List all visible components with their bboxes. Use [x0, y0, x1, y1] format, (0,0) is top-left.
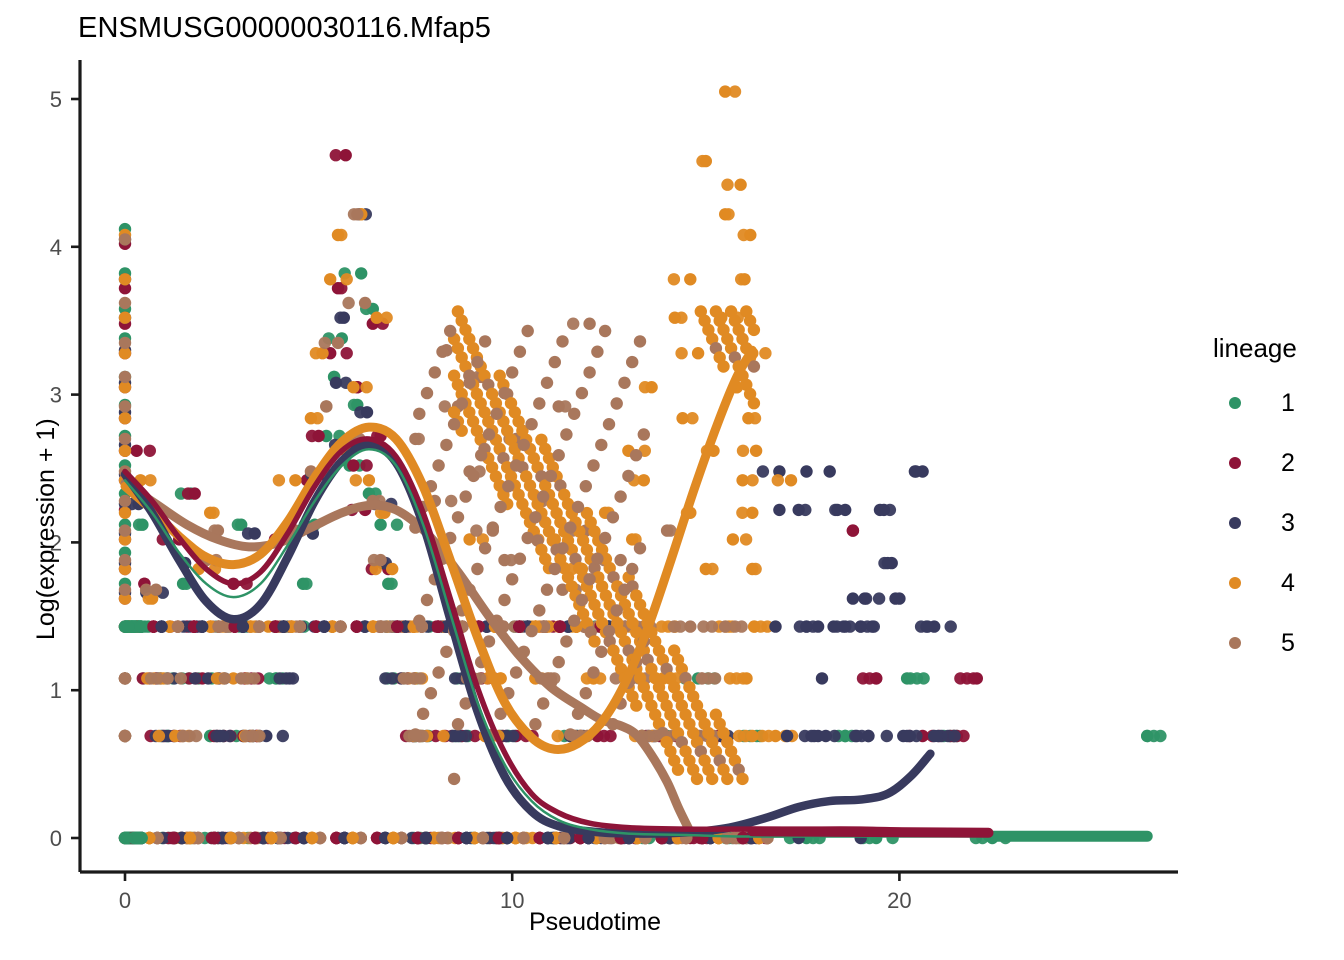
y-axis-label: Log(expression + 1): [0, 0, 38, 960]
legend-key-dot-icon: [1213, 568, 1257, 598]
legend-item-5[interactable]: 5: [1213, 628, 1295, 658]
y-tick-label: 3: [50, 383, 62, 408]
y-tick-label: 4: [50, 235, 62, 260]
scatter-density-fill: [119, 305, 941, 844]
fit-line-lineage-2-tail: [752, 831, 988, 833]
y-tick-label: 1: [50, 678, 62, 703]
legend-item-label: 2: [1281, 449, 1295, 478]
y-axis-label-text: Log(expression + 1): [32, 418, 61, 640]
y-tick-label: 0: [50, 826, 62, 851]
plot-root: ENSMUSG00000030116.Mfap5 Log(expression …: [0, 0, 1344, 960]
scatter-plot-canvas: 01234501020: [0, 0, 1344, 960]
legend-key-dot-icon: [1213, 628, 1257, 658]
legend-key-dot-icon: [1213, 508, 1257, 538]
legend-key-dot-icon: [1213, 388, 1257, 418]
legend-color-swatch: [1229, 637, 1241, 649]
y-tick-label: 5: [50, 87, 62, 112]
legend-item-2[interactable]: 2: [1213, 448, 1295, 478]
legend-item-label: 4: [1281, 569, 1295, 598]
scatter-points-layer: [119, 85, 1167, 844]
legend-item-label: 1: [1281, 389, 1295, 418]
x-axis-label: Pseudotime: [0, 908, 1190, 937]
legend-item-label: 5: [1281, 629, 1295, 658]
legend-color-swatch: [1229, 577, 1241, 589]
legend-item-4[interactable]: 4: [1213, 568, 1295, 598]
legend-color-swatch: [1229, 517, 1241, 529]
fit-line-lineage-2: [125, 439, 988, 832]
legend-item-3[interactable]: 3: [1213, 508, 1295, 538]
legend-item-label: 3: [1281, 509, 1295, 538]
page-title: ENSMUSG00000030116.Mfap5: [78, 12, 491, 45]
legend-color-swatch: [1229, 397, 1241, 409]
axes-layer: 01234501020: [50, 60, 1178, 913]
legend-color-swatch: [1229, 457, 1241, 469]
legend-item-1[interactable]: 1: [1213, 388, 1295, 418]
legend-key-dot-icon: [1213, 448, 1257, 478]
legend-title: lineage: [1213, 333, 1297, 364]
